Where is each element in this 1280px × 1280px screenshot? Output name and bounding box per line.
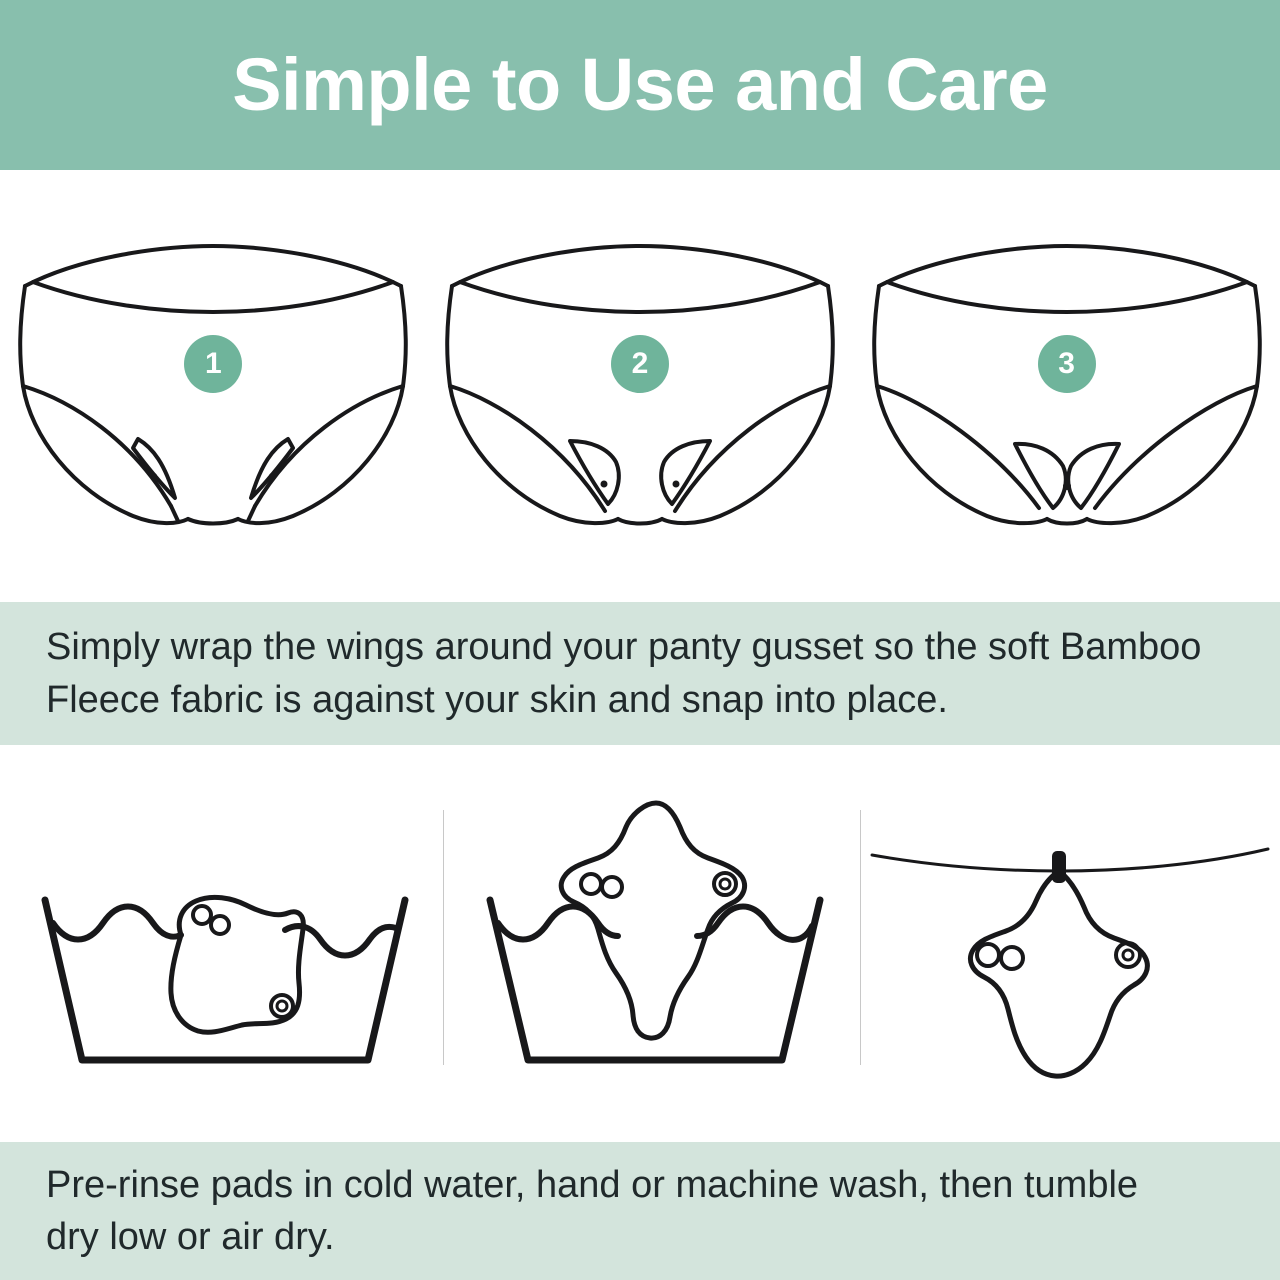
care-icons-row (0, 745, 1280, 1142)
infographic-page: Simple to Use and Care (0, 0, 1280, 1280)
caption-line-1: Simply wrap the wings around your panty … (46, 621, 1234, 673)
step-two: 2 (440, 236, 840, 536)
clothesline (872, 849, 1268, 871)
caption-band-use: Simply wrap the wings around your panty … (0, 602, 1280, 745)
caption-line-2: Fleece fabric is against your skin and s… (46, 674, 1234, 726)
snap-dot-right (269, 473, 275, 479)
care-icon-machine-wash (460, 795, 850, 1095)
step-number-badge: 2 (611, 335, 669, 393)
caption-line-1: Pre-rinse pads in cold water, hand or ma… (46, 1159, 1234, 1211)
caption-band-care: Pre-rinse pads in cold water, hand or ma… (0, 1142, 1280, 1280)
header-band: Simple to Use and Care (0, 0, 1280, 170)
snap-dot-left (151, 473, 157, 479)
caption-line-2: dry low or air dry. (46, 1211, 1234, 1263)
steps-row: 1 2 (0, 170, 1280, 602)
pre-rinse-basin-icon (20, 795, 430, 1095)
page-title: Simple to Use and Care (232, 48, 1048, 122)
snap-dot-left (600, 481, 607, 488)
care-divider-2 (860, 810, 861, 1065)
step-one: 1 (13, 236, 413, 536)
snap-dot-center (1063, 482, 1071, 490)
step-number-badge: 3 (1038, 335, 1096, 393)
air-dry-clothesline-icon (870, 795, 1270, 1095)
step-number-badge: 1 (184, 335, 242, 393)
snap-dot-right (672, 481, 679, 488)
machine-wash-basin-icon (460, 795, 850, 1095)
step-three: 3 (867, 236, 1267, 536)
care-divider-1 (443, 810, 444, 1065)
care-icon-air-dry (870, 795, 1270, 1095)
care-icon-pre-rinse (20, 795, 430, 1095)
